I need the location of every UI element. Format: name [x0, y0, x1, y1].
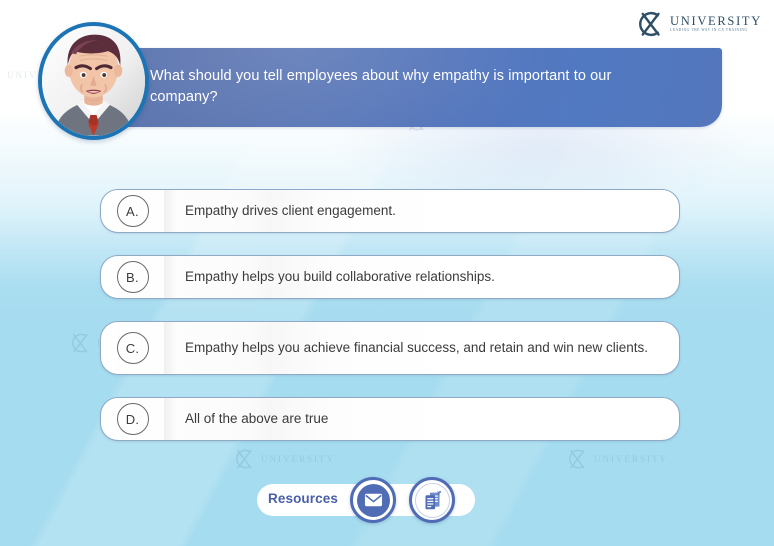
option-text-c: Empathy helps you achieve financial succ… — [164, 338, 679, 357]
brand-wordmark: UNIVERSITY LEADING THE WAY IN CX TRAININ… — [670, 15, 762, 33]
document-notes-icon — [415, 483, 450, 518]
document-resource-button[interactable] — [409, 477, 455, 523]
option-letter-b: B. — [117, 261, 149, 293]
envelope-icon — [357, 484, 390, 517]
question-banner: What should you tell employees about why… — [78, 48, 722, 127]
option-letter-badge-d: D. — [101, 403, 164, 435]
instructor-avatar-illustration — [42, 26, 145, 136]
option-row-d[interactable]: D. All of the above are true — [100, 397, 680, 441]
option-letter-badge-b: B. — [101, 261, 164, 293]
option-text-d: All of the above are true — [164, 409, 679, 428]
option-text-a: Empathy drives client engagement. — [164, 201, 679, 220]
xc-monogram-icon — [636, 8, 666, 40]
xc-monogram-icon — [0, 62, 4, 88]
question-text: What should you tell employees about why… — [150, 66, 670, 107]
option-row-b[interactable]: B. Empathy helps you build collaborative… — [100, 255, 680, 299]
option-row-c[interactable]: C. Empathy helps you achieve financial s… — [100, 321, 680, 375]
option-letter-c: C. — [117, 332, 149, 364]
option-row-a[interactable]: A. Empathy drives client engagement. — [100, 189, 680, 233]
option-text-b: Empathy helps you build collaborative re… — [164, 267, 679, 286]
option-letter-d: D. — [117, 403, 149, 435]
answer-options-list: A. Empathy drives client engagement. B. … — [100, 189, 680, 463]
brand-logo: UNIVERSITY LEADING THE WAY IN CX TRAININ… — [636, 8, 762, 40]
option-letter-badge-a: A. — [101, 195, 164, 227]
brand-tagline: LEADING THE WAY IN CX TRAINING — [670, 29, 762, 33]
resources-bar: Resources — [257, 484, 475, 516]
resources-label: Resources — [268, 491, 338, 506]
xc-monogram-icon — [68, 330, 94, 356]
email-resource-button[interactable] — [350, 477, 396, 523]
brand-name: UNIVERSITY — [670, 15, 762, 28]
option-letter-a: A. — [117, 195, 149, 227]
option-letter-badge-c: C. — [101, 332, 164, 364]
slide-canvas: UNIVERSITY UNIVERSITY UNIVERSITY UNIVERS… — [0, 0, 774, 546]
avatar — [38, 22, 149, 140]
